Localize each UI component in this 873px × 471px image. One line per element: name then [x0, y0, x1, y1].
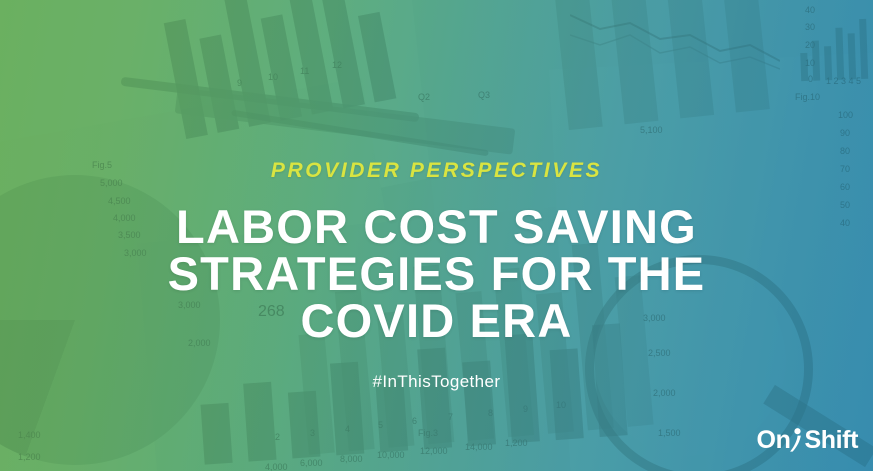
headline-line-3: COVID ERA — [168, 297, 706, 344]
logo-text-on: On — [757, 428, 791, 453]
promo-banner: Fig.5 Fig.10 Fig.3 268 5,000 4,500 4,000… — [0, 0, 873, 471]
headline-line-2: STRATEGIES FOR THE — [168, 250, 706, 297]
eyebrow-text: PROVIDER PERSPECTIVES — [271, 160, 602, 181]
person-figure-icon — [789, 427, 804, 453]
headline-line-1: LABOR COST SAVING — [168, 203, 706, 250]
logo-text-shift: Shift — [804, 428, 858, 453]
hashtag-text: #InThisTogether — [373, 372, 501, 392]
banner-content: PROVIDER PERSPECTIVES LABOR COST SAVING … — [0, 0, 873, 471]
onshift-logo[interactable]: On Shift — [757, 427, 858, 453]
page-title: LABOR COST SAVING STRATEGIES FOR THE COV… — [168, 203, 706, 344]
